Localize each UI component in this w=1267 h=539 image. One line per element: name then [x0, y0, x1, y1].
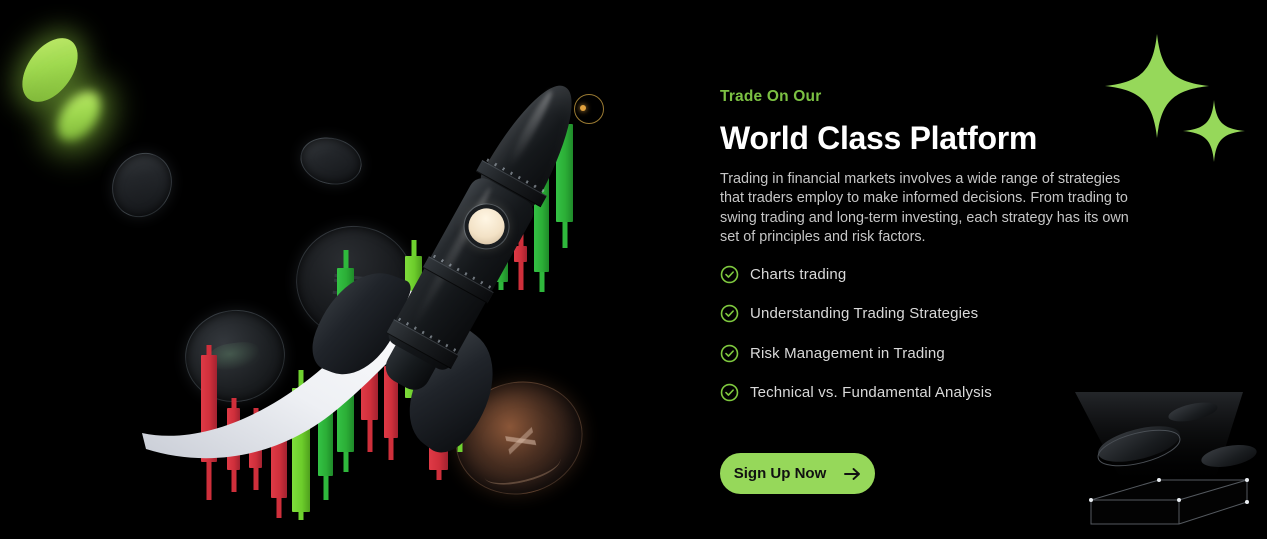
list-item: Risk Management in Trading — [720, 341, 1140, 365]
feature-list: Charts trading Understanding Trading Str… — [720, 262, 1140, 420]
rocket-candlestick-illustration — [0, 0, 660, 539]
check-circle-icon — [720, 344, 739, 363]
list-item: Charts trading — [720, 262, 1140, 286]
page-title: World Class Platform — [720, 120, 1037, 157]
hero-description: Trading in financial markets involves a … — [720, 170, 1138, 248]
list-item: Understanding Trading Strategies — [720, 302, 1140, 326]
check-circle-icon — [720, 383, 739, 402]
four-point-star-icon-small — [1183, 100, 1245, 162]
hero-content: Trade On Our World Class Platform Tradin… — [720, 0, 1190, 539]
feature-label: Charts trading — [750, 266, 846, 283]
hero-section: Trade On Our World Class Platform Tradin… — [0, 0, 1267, 539]
feature-label: Technical vs. Fundamental Analysis — [750, 384, 992, 401]
arrow-right-icon — [844, 467, 861, 481]
sign-up-button[interactable]: Sign Up Now — [720, 453, 875, 494]
orbit-ring-icon — [574, 94, 604, 124]
sign-up-button-label: Sign Up Now — [734, 465, 827, 482]
list-item: Technical vs. Fundamental Analysis — [720, 381, 1140, 405]
eyebrow-label: Trade On Our — [720, 88, 821, 106]
feature-label: Risk Management in Trading — [750, 345, 945, 362]
check-circle-icon — [720, 304, 739, 323]
check-circle-icon — [720, 265, 739, 284]
feature-label: Understanding Trading Strategies — [750, 305, 978, 322]
